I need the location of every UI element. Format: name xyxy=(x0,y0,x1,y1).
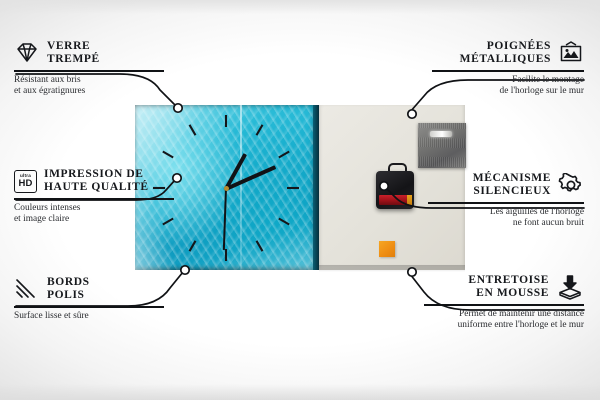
callout-description: Facilite le montage de l'horloge sur le … xyxy=(432,75,584,98)
gear-icon xyxy=(558,173,584,197)
callout-rule xyxy=(14,198,174,200)
callout-mecanisme-silencieux: MÉCANISME SILENCIEUX Les aiguilles de l'… xyxy=(428,172,584,230)
callout-description: Permet de maintenir une distance uniform… xyxy=(424,309,584,332)
callout-description: Résistant aux bris et aux égratignures xyxy=(14,75,164,98)
callout-rule xyxy=(14,70,164,72)
picture-frame-hanger-icon xyxy=(558,41,584,65)
callout-rule xyxy=(14,306,164,308)
callout-title: MÉCANISME SILENCIEUX xyxy=(473,172,551,198)
diamond-icon xyxy=(14,42,40,64)
callout-rule xyxy=(432,70,584,72)
callout-bords-polis: BORDS POLIS Surface lisse et sûre xyxy=(14,276,164,322)
ultra-hd-icon: ultra HD xyxy=(14,170,37,193)
callout-impression-haute-qualite: ultra HD IMPRESSION DE HAUTE QUALITÉ Cou… xyxy=(14,168,174,226)
callout-title: ENTRETOISE EN MOUSSE xyxy=(468,274,549,300)
hd-icon-large-text: HD xyxy=(18,179,32,189)
polished-edges-icon xyxy=(14,278,40,300)
callout-description: Les aiguilles de l'horloge ne font aucun… xyxy=(428,207,584,230)
callout-description: Surface lisse et sûre xyxy=(14,311,164,323)
foam-spacer-icon xyxy=(556,274,584,300)
callout-rule xyxy=(424,304,584,306)
callout-title: IMPRESSION DE HAUTE QUALITÉ xyxy=(44,168,149,194)
callout-verre-trempe: VERRE TREMPÉ Résistant aux bris et aux é… xyxy=(14,40,164,98)
callout-title: POIGNÉES MÉTALLIQUES xyxy=(460,40,551,66)
callout-poignees-metalliques: POIGNÉES MÉTALLIQUES Facilite le montage… xyxy=(432,40,584,98)
callout-title: VERRE TREMPÉ xyxy=(47,40,100,66)
callout-description: Couleurs intenses et image claire xyxy=(14,203,174,226)
callout-rule xyxy=(428,202,584,204)
callout-title: BORDS POLIS xyxy=(47,276,90,302)
infographic-canvas: VERRE TREMPÉ Résistant aux bris et aux é… xyxy=(0,0,600,400)
callout-entretoise-en-mousse: ENTRETOISE EN MOUSSE Permet de maintenir… xyxy=(424,274,584,332)
